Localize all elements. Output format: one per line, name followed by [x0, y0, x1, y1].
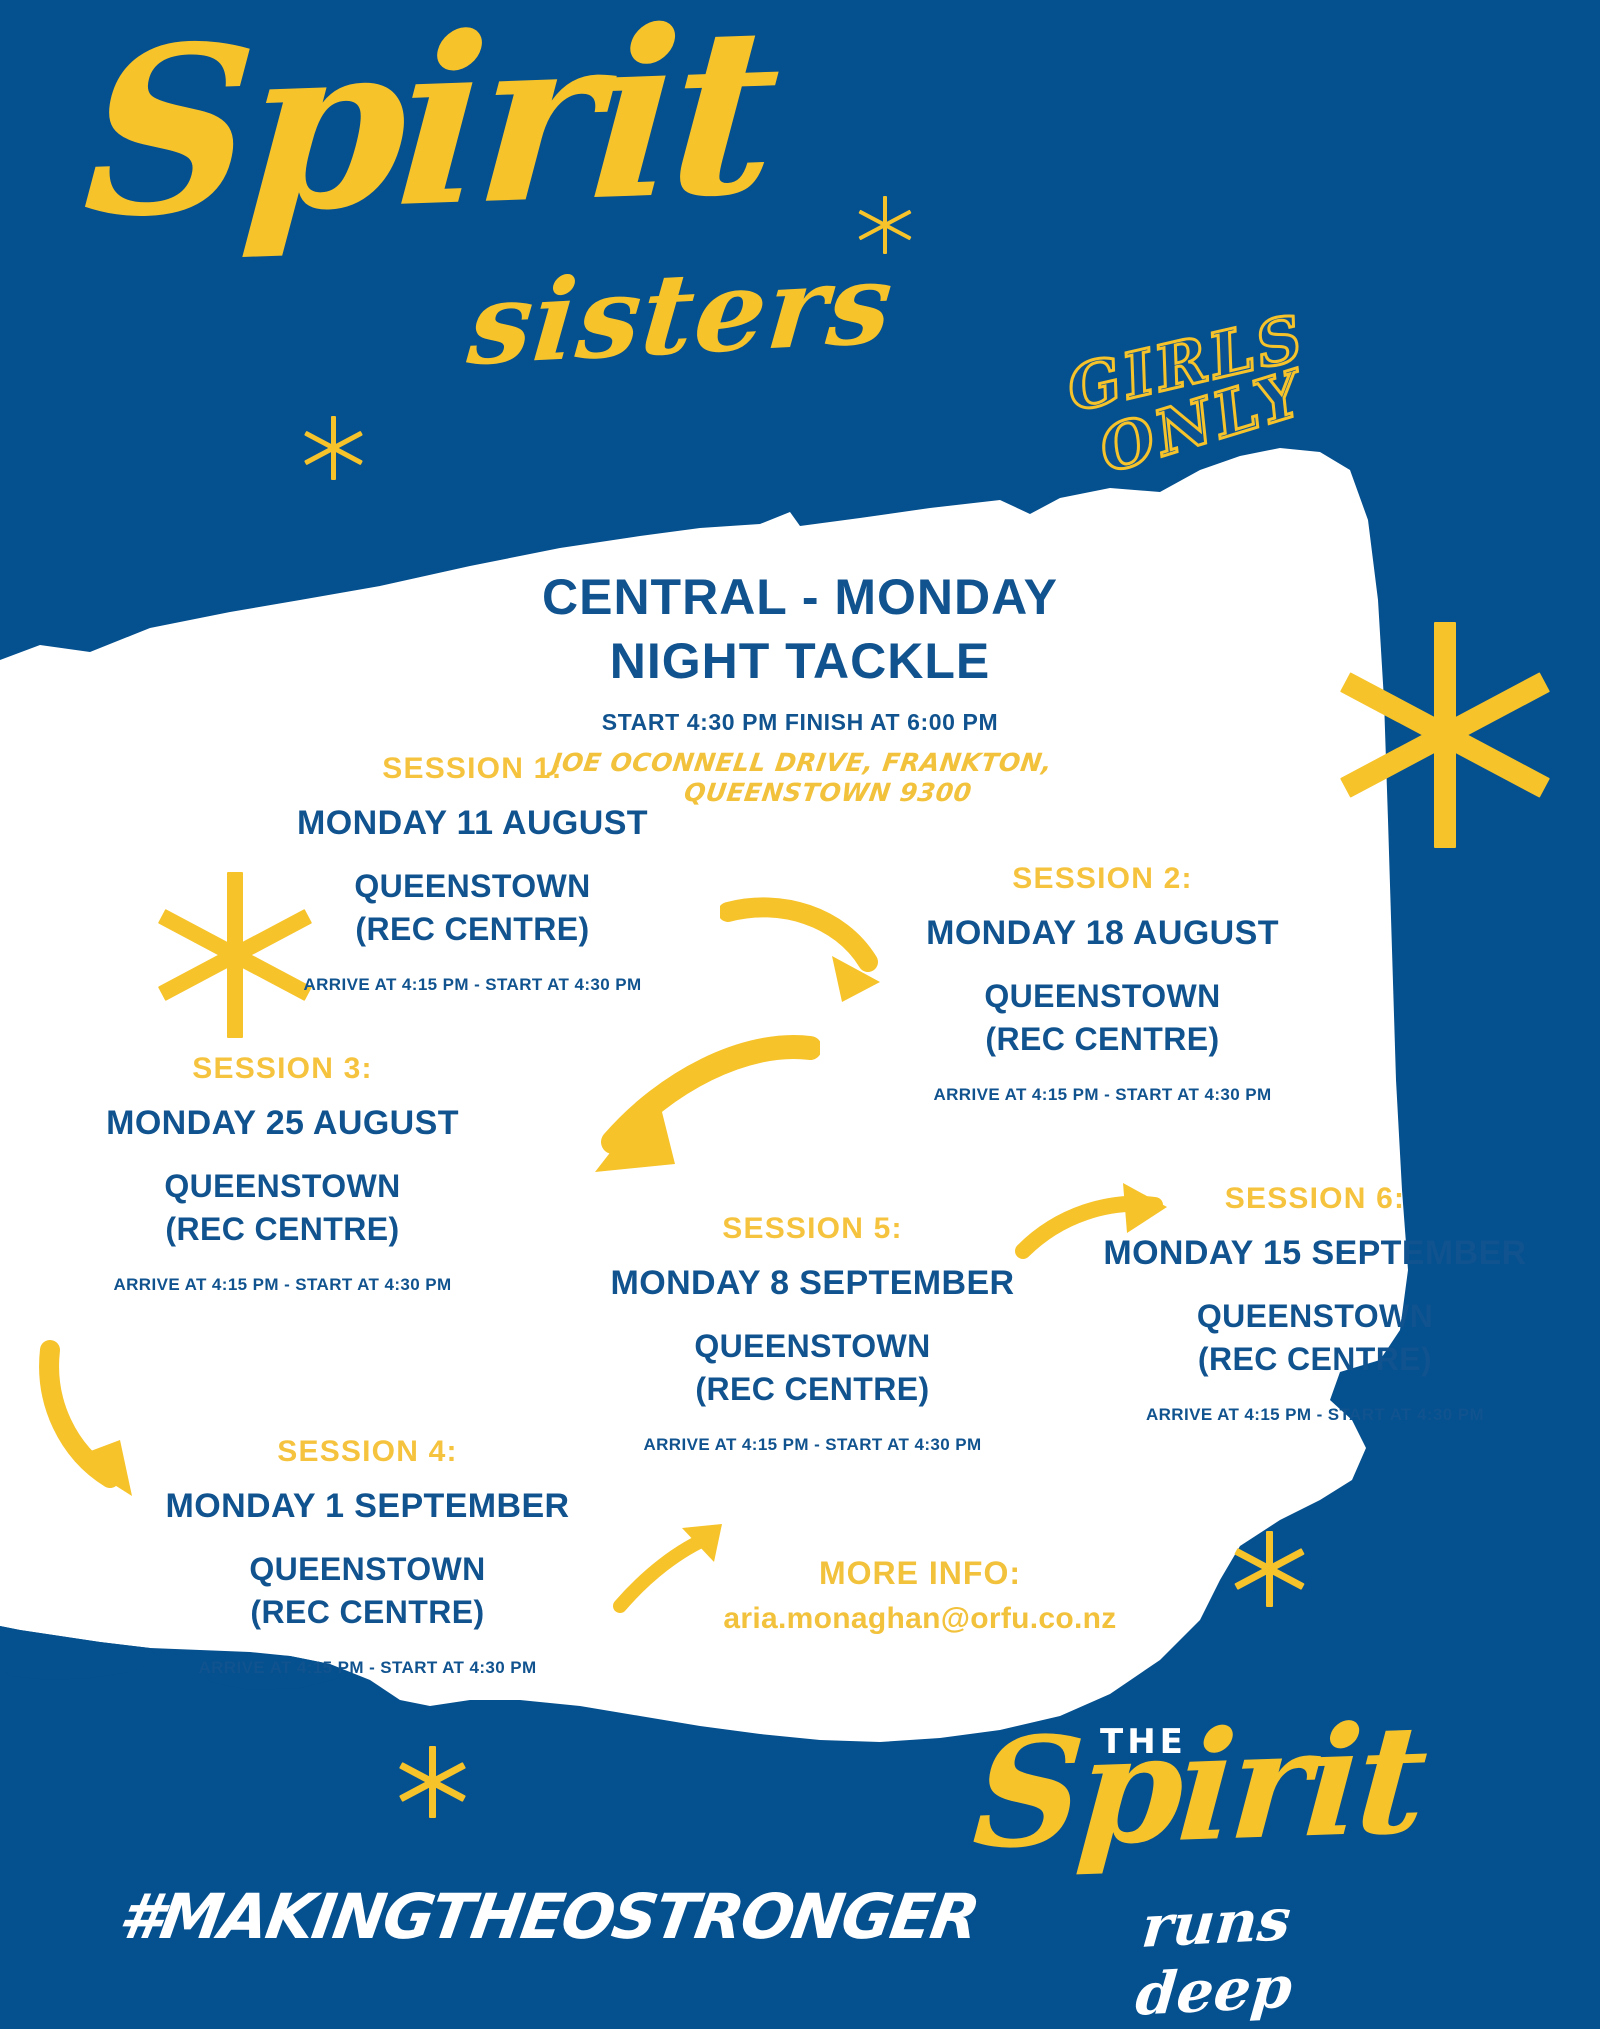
- session-3-venue-line2: (REC CENTRE): [40, 1208, 525, 1251]
- session-6-title: SESSION 6:: [1070, 1182, 1560, 1216]
- session-6-note: ARRIVE AT 4:15 PM - START AT 4:30 PM: [1070, 1405, 1560, 1425]
- session-4-title: SESSION 4:: [125, 1435, 610, 1469]
- session-1-venue-line2: (REC CENTRE): [230, 908, 715, 951]
- session-card-6: SESSION 6: MONDAY 15 SEPTEMBER QUEENSTOW…: [1070, 1182, 1560, 1425]
- sparkle-icon: [300, 415, 366, 481]
- sparkle-icon: [855, 195, 915, 255]
- session-1-venue-line1: QUEENSTOWN: [230, 865, 715, 908]
- session-card-4: SESSION 4: MONDAY 1 SEPTEMBER QUEENSTOWN…: [125, 1435, 610, 1678]
- girls-only-badge: GIRLS ONLY: [1062, 302, 1363, 528]
- session-2-venue-line1: QUEENSTOWN: [860, 975, 1345, 1018]
- session-4-venue-line2: (REC CENTRE): [125, 1591, 610, 1634]
- brand-sisters-text: sisters: [463, 238, 898, 391]
- session-1-title: SESSION 1:: [230, 752, 715, 786]
- session-2-note: ARRIVE AT 4:15 PM - START AT 4:30 PM: [860, 1085, 1345, 1105]
- footer-hashtag: #MAKINGTHEOSTRONGER: [114, 1880, 983, 1953]
- session-5-title: SESSION 5:: [570, 1212, 1055, 1246]
- session-5-note: ARRIVE AT 4:15 PM - START AT 4:30 PM: [570, 1435, 1055, 1455]
- sparkle-icon: [395, 1745, 469, 1819]
- session-3-date: MONDAY 25 AUGUST: [40, 1104, 525, 1143]
- logo-spirit-text: Spirit: [969, 1704, 1426, 1869]
- session-5-venue-line1: QUEENSTOWN: [570, 1325, 1055, 1368]
- session-card-1: SESSION 1: MONDAY 11 AUGUST QUEENSTOWN (…: [230, 752, 715, 995]
- more-info-label: MORE INFO:: [640, 1555, 1200, 1592]
- arrow-down-left-icon: [545, 1030, 820, 1185]
- session-3-venue-line1: QUEENSTOWN: [40, 1165, 525, 1208]
- session-6-venue-line1: QUEENSTOWN: [1070, 1295, 1560, 1338]
- brand-wordmark: Spirit sisters: [95, 20, 925, 450]
- session-5-date: MONDAY 8 SEPTEMBER: [570, 1264, 1055, 1303]
- session-card-5: SESSION 5: MONDAY 8 SEPTEMBER QUEENSTOWN…: [570, 1212, 1055, 1455]
- session-1-note: ARRIVE AT 4:15 PM - START AT 4:30 PM: [230, 975, 715, 995]
- spirit-logo: Spirit THE runs deep: [980, 1700, 1440, 2000]
- event-time: START 4:30 PM FINISH AT 6:00 PM: [470, 709, 1130, 736]
- session-1-date: MONDAY 11 AUGUST: [230, 804, 715, 843]
- session-card-3: SESSION 3: MONDAY 25 AUGUST QUEENSTOWN (…: [40, 1052, 525, 1295]
- session-2-title: SESSION 2:: [860, 862, 1345, 896]
- session-3-note: ARRIVE AT 4:15 PM - START AT 4:30 PM: [40, 1275, 525, 1295]
- session-card-2: SESSION 2: MONDAY 18 AUGUST QUEENSTOWN (…: [860, 862, 1345, 1105]
- logo-the-text: THE: [1100, 1722, 1187, 1762]
- session-5-venue-line2: (REC CENTRE): [570, 1368, 1055, 1411]
- page-title-line2: NIGHT TACKLE: [470, 629, 1130, 693]
- contact-email[interactable]: aria.monaghan@orfu.co.nz: [640, 1602, 1200, 1636]
- session-6-date: MONDAY 15 SEPTEMBER: [1070, 1234, 1560, 1273]
- session-2-venue-line2: (REC CENTRE): [860, 1018, 1345, 1061]
- session-4-note: ARRIVE AT 4:15 PM - START AT 4:30 PM: [125, 1658, 610, 1678]
- session-6-venue-line2: (REC CENTRE): [1070, 1338, 1560, 1381]
- session-4-date: MONDAY 1 SEPTEMBER: [125, 1487, 610, 1526]
- session-2-date: MONDAY 18 AUGUST: [860, 914, 1345, 953]
- contact-block: MORE INFO: aria.monaghan@orfu.co.nz: [640, 1555, 1200, 1636]
- session-3-title: SESSION 3:: [40, 1052, 525, 1086]
- sparkle-icon: [1330, 620, 1560, 850]
- sparkle-icon: [1230, 1530, 1308, 1608]
- brand-spirit-text: Spirit: [79, 0, 778, 250]
- page-title-line1: CENTRAL - MONDAY: [470, 565, 1130, 629]
- logo-tagline-text: runs deep: [1133, 1877, 1447, 2029]
- session-4-venue-line1: QUEENSTOWN: [125, 1548, 610, 1591]
